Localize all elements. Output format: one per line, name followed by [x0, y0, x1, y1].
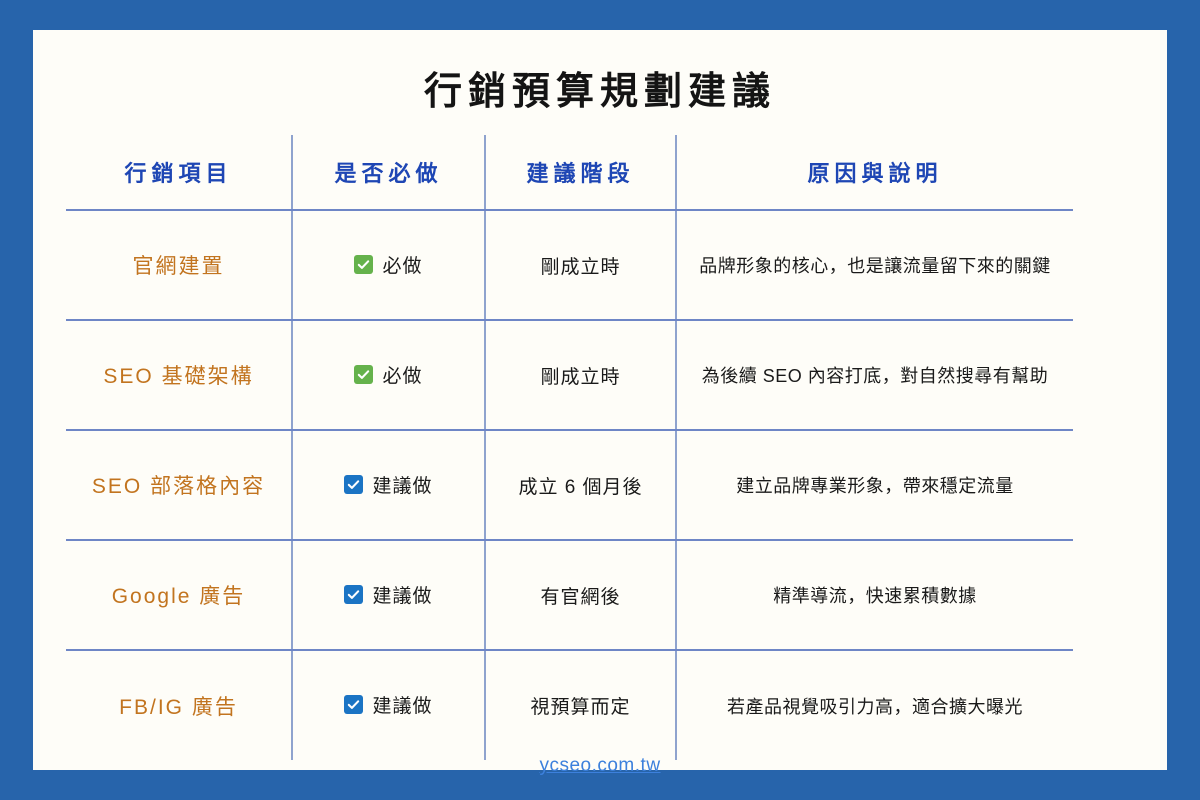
cell-item: 官網建置	[66, 210, 292, 320]
cell-need: 必做	[292, 210, 485, 320]
need-label: 建議做	[372, 581, 432, 608]
cell-stage: 視預算而定	[485, 650, 676, 760]
need-label: 建議做	[372, 471, 432, 498]
cell-reason: 若產品視覺吸引力高，適合擴大曝光	[676, 650, 1073, 760]
need-indicator: 建議做	[344, 691, 432, 718]
need-label: 必做	[382, 251, 422, 278]
page-title: 行銷預算規劃建議	[33, 60, 1167, 115]
check-box-blue-icon	[344, 475, 363, 494]
column-header-reason: 原因與說明	[676, 135, 1073, 210]
cell-reason: 建立品牌專業形象，帶來穩定流量	[676, 430, 1073, 540]
cell-stage: 剛成立時	[485, 210, 676, 320]
column-header-need: 是否必做	[292, 135, 485, 210]
cell-stage: 成立 6 個月後	[485, 430, 676, 540]
table-row: 官網建置 必做 剛成立時 品牌形象的核心，也是讓流量留下來的關鍵	[66, 210, 1073, 320]
cell-stage: 有官網後	[485, 540, 676, 650]
table-row: SEO 部落格內容 建議做 成立 6 個月後 建立品牌專業形象，帶來穩定流量	[66, 430, 1073, 540]
cell-need: 建議做	[292, 540, 485, 650]
website-link[interactable]: ycseo.com.tw	[539, 755, 660, 776]
check-box-green-icon	[354, 255, 373, 274]
marketing-budget-table: 行銷項目 是否必做 建議階段 原因與說明 官網建置	[66, 135, 1073, 760]
cell-reason: 品牌形象的核心，也是讓流量留下來的關鍵	[676, 210, 1073, 320]
cell-need: 建議做	[292, 430, 485, 540]
cell-item: SEO 基礎架構	[66, 320, 292, 430]
table-row: FB/IG 廣告 建議做 視預算而定 若產品視覺吸引力高，適合擴大曝光	[66, 650, 1073, 760]
need-label: 建議做	[372, 691, 432, 718]
cell-need: 必做	[292, 320, 485, 430]
footer: ycseo.com.tw	[33, 755, 1167, 777]
cell-item: FB/IG 廣告	[66, 650, 292, 760]
check-box-blue-icon	[344, 695, 363, 714]
budget-table-container: 行銷項目 是否必做 建議階段 原因與說明 官網建置	[66, 135, 1073, 760]
check-box-green-icon	[354, 365, 373, 384]
cell-stage: 剛成立時	[485, 320, 676, 430]
need-indicator: 必做	[354, 361, 422, 388]
cell-item: SEO 部落格內容	[66, 430, 292, 540]
outer-blue-frame: 行銷預算規劃建議 行銷項目 是否必做 建議階段 原因與說明 官網建置	[0, 0, 1200, 800]
column-header-item: 行銷項目	[66, 135, 292, 210]
table-header: 行銷項目 是否必做 建議階段 原因與說明	[66, 135, 1073, 210]
check-box-blue-icon	[344, 585, 363, 604]
column-header-stage: 建議階段	[485, 135, 676, 210]
table-header-row: 行銷項目 是否必做 建議階段 原因與說明	[66, 135, 1073, 210]
need-indicator: 建議做	[344, 471, 432, 498]
table-row: Google 廣告 建議做 有官網後 精準導流，快速累積數據	[66, 540, 1073, 650]
need-label: 必做	[382, 361, 422, 388]
cell-reason: 為後續 SEO 內容打底，對自然搜尋有幫助	[676, 320, 1073, 430]
cell-reason: 精準導流，快速累積數據	[676, 540, 1073, 650]
need-indicator: 必做	[354, 251, 422, 278]
table-row: SEO 基礎架構 必做 剛成立時 為後續 SEO 內容打底，對自然搜尋有幫助	[66, 320, 1073, 430]
content-card: 行銷預算規劃建議 行銷項目 是否必做 建議階段 原因與說明 官網建置	[33, 30, 1167, 770]
need-indicator: 建議做	[344, 581, 432, 608]
table-body: 官網建置 必做 剛成立時 品牌形象的核心，也是讓流量留下來的關鍵	[66, 210, 1073, 760]
cell-item: Google 廣告	[66, 540, 292, 650]
cell-need: 建議做	[292, 650, 485, 760]
